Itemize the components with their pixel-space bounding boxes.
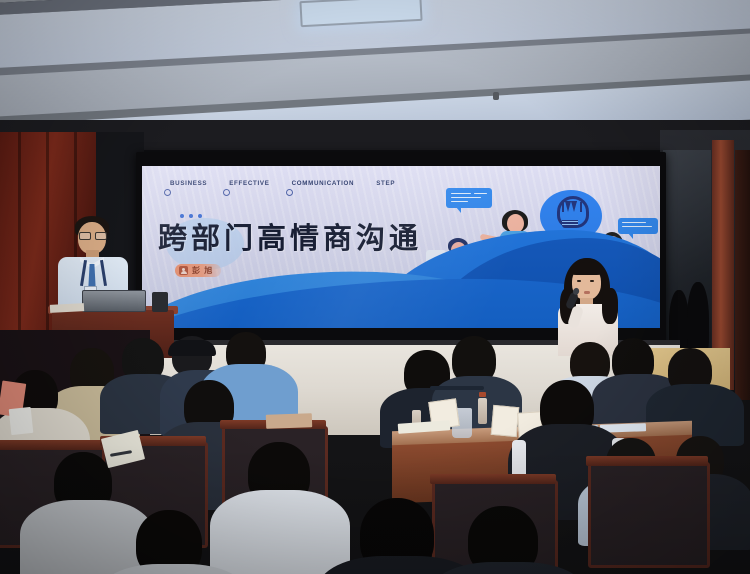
kicker-item-communication: COMMUNICATION [292, 180, 355, 187]
cap-icon [168, 340, 216, 356]
chair-rail [586, 456, 708, 466]
handout [266, 413, 312, 429]
speaker-name: 彭 旭 [192, 265, 213, 276]
slide-headline: 跨部门高情商沟通 [158, 224, 422, 253]
attendee-shoulders [210, 490, 350, 574]
ceiling-sensor-icon [493, 92, 499, 100]
podium-cup [152, 292, 168, 312]
conference-room-photo: BUSINESS EFFECTIVE COMMUNICATION STEP 跨部… [0, 0, 750, 574]
lightbulb-icon [555, 196, 585, 228]
speech-bubble [618, 218, 658, 234]
audience [0, 330, 750, 574]
conference-chair [588, 462, 710, 568]
chair-rail [430, 474, 556, 484]
podium-laptop [82, 290, 146, 312]
pen [430, 386, 484, 390]
person-icon [179, 266, 188, 275]
name-card [491, 405, 520, 437]
presenter-at-podium [44, 214, 154, 344]
attendee-shoulders [20, 500, 154, 574]
glasses-icon [79, 232, 105, 238]
water-bottle [478, 398, 487, 424]
speaker-badge: 彭 旭 [175, 264, 221, 277]
host-bangs [570, 262, 603, 275]
host-mouth [584, 291, 590, 294]
kicker-item-step: STEP [376, 180, 395, 187]
chair-rail [0, 440, 106, 450]
slide-kicker: BUSINESS EFFECTIVE COMMUNICATION STEP [170, 180, 395, 187]
kicker-item-effective: EFFECTIVE [229, 180, 269, 187]
speech-bubble [446, 188, 492, 208]
bottle-cap [479, 392, 486, 397]
handout [9, 407, 34, 435]
kicker-item-business: BUSINESS [170, 180, 207, 187]
